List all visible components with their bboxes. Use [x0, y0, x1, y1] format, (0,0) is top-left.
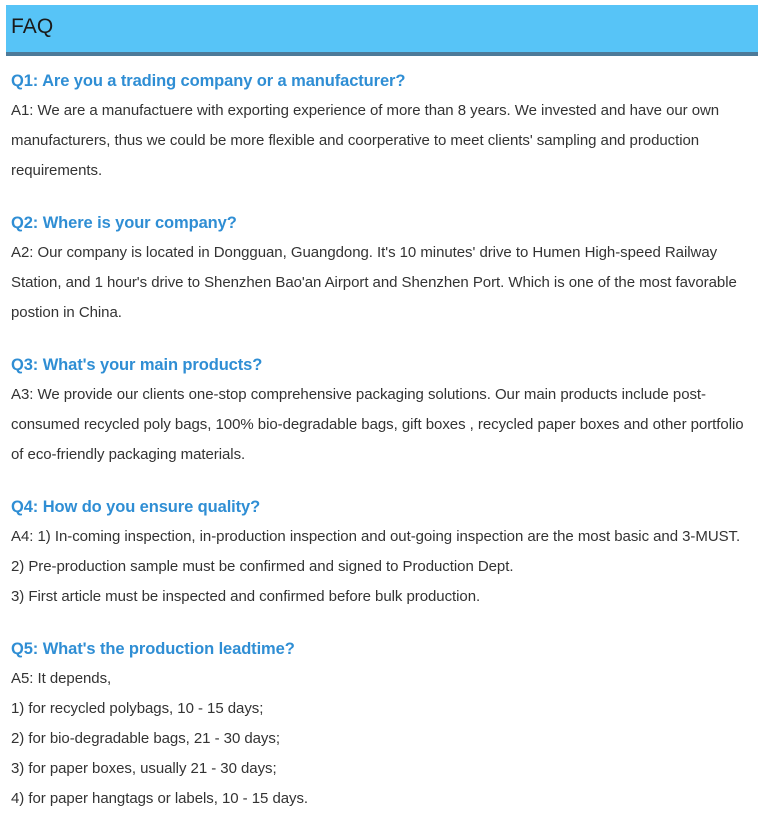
faq-answer: A2: Our company is located in Dongguan, …	[11, 238, 753, 328]
faq-answer-line: 2) Pre-production sample must be confirm…	[11, 552, 753, 582]
faq-item: Q5: What's the production leadtime?A5: I…	[11, 638, 753, 814]
faq-answer-line: A5: It depends,	[11, 664, 753, 694]
faq-item: Q1: Are you a trading company or a manuf…	[11, 70, 753, 186]
faq-item: Q3: What's your main products?A3: We pro…	[11, 354, 753, 470]
faq-answer-line: 3) First article must be inspected and c…	[11, 582, 753, 612]
faq-answer: A1: We are a manufactuere with exporting…	[11, 96, 753, 186]
faq-answer-line: A3: We provide our clients one-stop comp…	[11, 380, 753, 470]
faq-answer-line: A4: 1) In-coming inspection, in-producti…	[11, 522, 753, 552]
faq-answer-line: A2: Our company is located in Dongguan, …	[11, 238, 753, 328]
faq-question: Q3: What's your main products?	[11, 354, 753, 376]
faq-question: Q1: Are you a trading company or a manuf…	[11, 70, 753, 92]
faq-answer-line: A1: We are a manufactuere with exporting…	[11, 96, 753, 186]
faq-answer-line: 3) for paper boxes, usually 21 - 30 days…	[11, 754, 753, 784]
faq-page: FAQ Q1: Are you a trading company or a m…	[0, 0, 765, 748]
faq-question: Q5: What's the production leadtime?	[11, 638, 753, 660]
faq-header-banner: FAQ	[6, 5, 758, 56]
faq-answer: A4: 1) In-coming inspection, in-producti…	[11, 522, 753, 612]
faq-item: Q2: Where is your company?A2: Our compan…	[11, 212, 753, 328]
faq-answer-line: 1) for recycled polybags, 10 - 15 days;	[11, 694, 753, 724]
page-title: FAQ	[11, 13, 53, 41]
faq-list: Q1: Are you a trading company or a manuf…	[11, 70, 753, 814]
faq-item: Q4: How do you ensure quality?A4: 1) In-…	[11, 496, 753, 612]
faq-answer: A3: We provide our clients one-stop comp…	[11, 380, 753, 470]
faq-answer-line: 2) for bio-degradable bags, 21 - 30 days…	[11, 724, 753, 754]
faq-answer: A5: It depends,1) for recycled polybags,…	[11, 664, 753, 814]
faq-answer-line: 4) for paper hangtags or labels, 10 - 15…	[11, 784, 753, 814]
faq-question: Q4: How do you ensure quality?	[11, 496, 753, 518]
faq-question: Q2: Where is your company?	[11, 212, 753, 234]
